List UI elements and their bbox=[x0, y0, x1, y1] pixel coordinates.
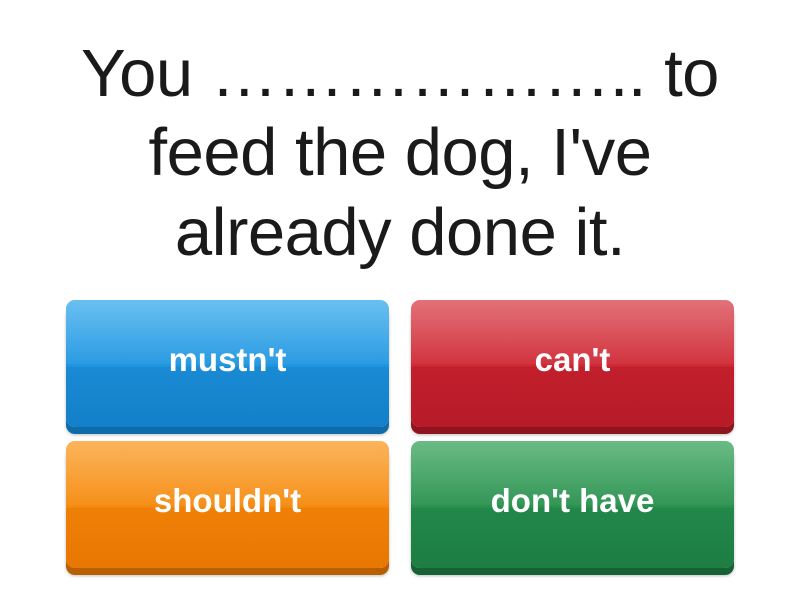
quiz-container: You ……………….. to feed the dog, I've alrea… bbox=[0, 0, 800, 600]
answer-option-cant[interactable]: can't bbox=[411, 300, 734, 427]
answer-option-mustnt-label: mustn't bbox=[169, 342, 287, 379]
answer-option-dont-have[interactable]: don't have bbox=[411, 441, 734, 568]
answer-option-shouldnt-label: shouldn't bbox=[154, 483, 301, 520]
answer-option-dont-have-label: don't have bbox=[491, 483, 655, 520]
answer-option-mustnt[interactable]: mustn't bbox=[66, 300, 389, 427]
question-text: You ……………….. to feed the dog, I've alrea… bbox=[40, 34, 760, 271]
question-area: You ……………….. to feed the dog, I've alrea… bbox=[0, 0, 800, 300]
answer-option-shouldnt[interactable]: shouldn't bbox=[66, 441, 389, 568]
answer-option-cant-label: can't bbox=[535, 342, 611, 379]
answer-options-grid: mustn't can't shouldn't don't have bbox=[0, 300, 800, 600]
